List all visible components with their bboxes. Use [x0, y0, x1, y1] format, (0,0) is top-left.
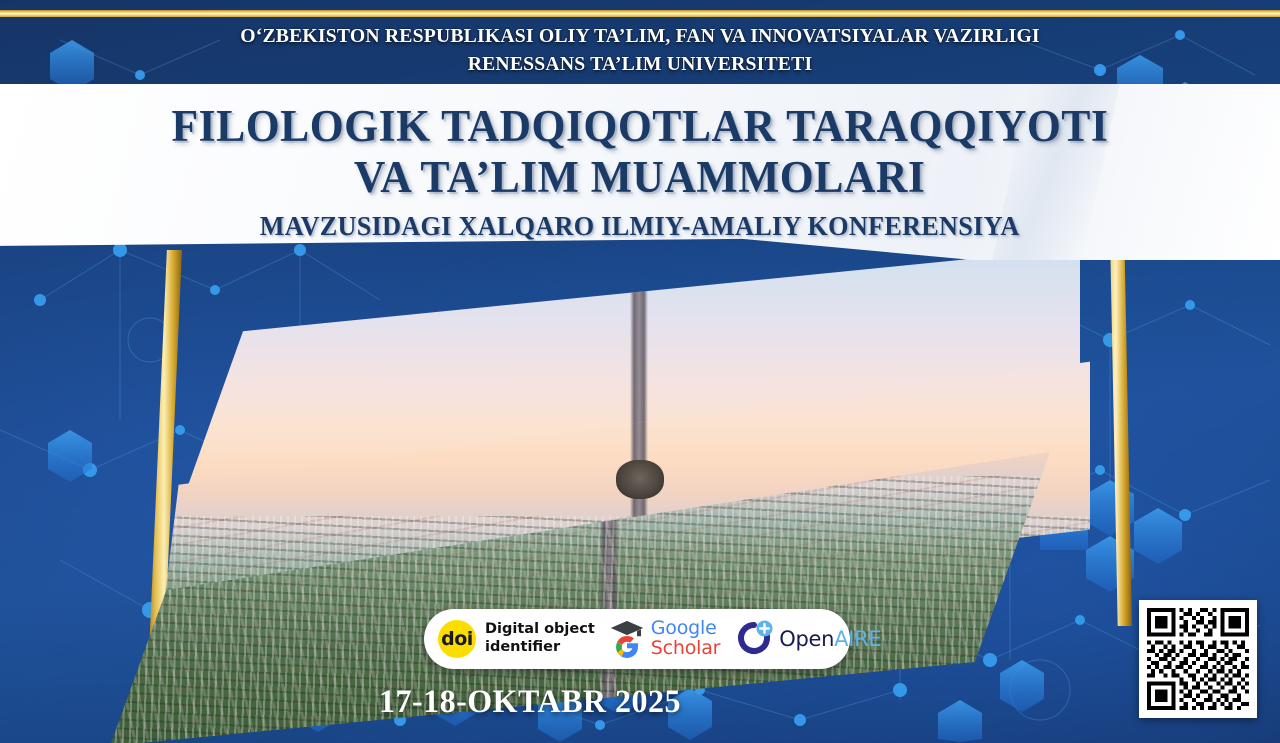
doi-label-line-2: identifier	[485, 639, 595, 657]
google-scholar-icon	[607, 618, 647, 660]
openaire-word-2: AIRE	[834, 627, 881, 651]
openaire-icon	[733, 618, 775, 660]
google-scholar-word-2: Scholar	[651, 639, 721, 659]
ministry-header: O‘ZBEKISTON RESPUBLIKASI OLIY TA’LIM, FA…	[26, 22, 1255, 79]
openaire-wordmark: OpenAIRE	[779, 627, 881, 651]
doi-label: Digital object identifier	[485, 621, 595, 656]
gold-stripe-right	[1098, 246, 1132, 626]
doi-badge-text: doi	[441, 630, 473, 649]
qr-code-image	[1147, 608, 1249, 710]
doi-icon: doi	[438, 620, 476, 658]
title-subtitle: MAVZUSIDAGI XALQARO ILMIY-AMALIY KONFERE…	[260, 211, 1020, 242]
google-scholar-logo: Google Scholar	[607, 618, 721, 660]
title-line-2: VA TA’LIM MUAMMOLARI	[354, 155, 925, 200]
conference-poster: O‘ZBEKISTON RESPUBLIKASI OLIY TA’LIM, FA…	[0, 0, 1280, 743]
doi-label-line-1: Digital object	[485, 621, 595, 639]
title-line-1: FILOLOGIK TADQIQOTLAR TARAQQIYOTI	[172, 104, 1109, 149]
indexing-logos-pill: doi Digital object identifier Go	[424, 609, 850, 669]
openaire-logo: OpenAIRE	[733, 618, 881, 660]
university-line: RENESSANS TA’LIM UNIVERSITETI	[26, 50, 1255, 78]
google-scholar-word-1: Google	[651, 619, 721, 639]
google-scholar-wordmark: Google Scholar	[651, 619, 721, 659]
conference-date: 17-18-OKTABR 2025	[16, 684, 1044, 721]
ministry-line-1: O‘ZBEKISTON RESPUBLIKASI OLIY TA’LIM, FA…	[26, 22, 1255, 50]
qr-code[interactable]	[1139, 600, 1257, 718]
top-gold-rule	[0, 10, 1280, 17]
openaire-word-1: Open	[779, 627, 834, 651]
title-block: FILOLOGIK TADQIQOTLAR TARAQQIYOTI VA TA’…	[0, 84, 1280, 260]
